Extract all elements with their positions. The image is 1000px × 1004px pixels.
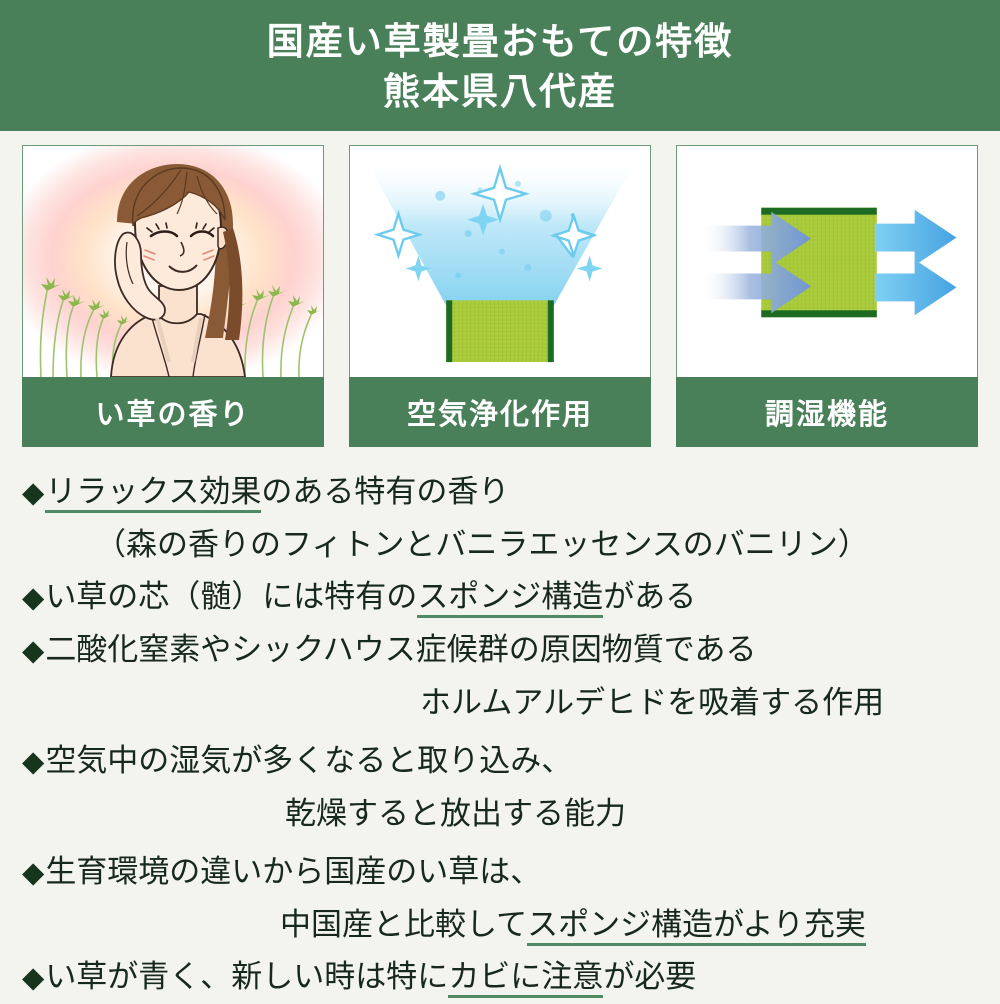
bullet-text: 中国産と比較して (280, 907, 527, 942)
bullet-text: 二酸化窒素やシックハウス症候群の原因物質である (45, 632, 756, 667)
highlighted-term: スポンジ構造 (417, 579, 603, 618)
bullet-text: がある (603, 579, 696, 614)
diamond-bullet-icon: ◆ (22, 857, 44, 889)
card-caption-air-purification: 空気浄化作用 (349, 377, 651, 447)
bullet-continuation-line: （森の香りのフィトンとバニラエッセンスのバニリン） (0, 519, 1000, 571)
feature-card-air-purification: 空気浄化作用 (349, 145, 651, 450)
fragrance-illustration (22, 145, 324, 377)
bullet-text: 乾燥すると放出する能力 (285, 796, 626, 831)
page-title-line-2: 熊本県八代産 (383, 67, 617, 117)
bullet-text: のある特有の香り (261, 474, 509, 509)
diamond-bullet-icon: ◆ (22, 582, 44, 614)
humidity-illustration (676, 145, 978, 377)
bullet-continuation-line: 乾燥すると放出する能力 (0, 788, 1000, 840)
tatami-mat-icon (350, 146, 650, 377)
page-header: 国産い草製畳おもての特徴 熊本県八代産 (0, 0, 1000, 131)
bullet-text: い草が青く、新しい時は特に (45, 959, 448, 994)
bullet-continuation-line: 中国産と比較してスポンジ構造がより充実 (0, 899, 1000, 951)
diamond-bullet-icon: ◆ (22, 635, 44, 667)
page-title-line-1: 国産い草製畳おもての特徴 (267, 17, 734, 67)
bullet-line: ◆二酸化窒素やシックハウス症候群の原因物質である (0, 624, 1000, 677)
bullet-line: ◆生育環境の違いから国産のい草は、 (0, 846, 1000, 899)
diamond-bullet-icon: ◆ (22, 477, 44, 509)
bullet-text: ホルムアルデヒドを吸着する作用 (420, 685, 884, 720)
bullet-line: ◆空気中の湿気が多くなると取り込み、 (0, 735, 1000, 788)
bullet-text: が必要 (603, 959, 696, 994)
feature-bullet-list: ◆リラックス効果のある特有の香り（森の香りのフィトンとバニラエッセンスのバニリン… (0, 466, 1000, 1004)
bullet-text: い草の芯（髄）には特有の (45, 579, 417, 614)
woman-face-icon (73, 162, 273, 377)
feature-card-fragrance: い草の香り (22, 145, 324, 450)
bullet-text: 空気中の湿気が多くなると取り込み、 (45, 743, 572, 778)
bullet-line: ◆い草が青く、新しい時は特にカビに注意が必要 (0, 951, 1000, 1004)
highlighted-term: リラックス効果 (45, 474, 261, 513)
diamond-bullet-icon: ◆ (22, 962, 44, 994)
bullet-line: ◆リラックス効果のある特有の香り (0, 466, 1000, 519)
highlighted-term: スポンジ構造がより充実 (527, 907, 866, 946)
air-purification-illustration (349, 145, 651, 377)
bullet-text: 生育環境の違いから国産のい草は、 (45, 854, 541, 889)
bullet-line: ◆い草の芯（髄）には特有のスポンジ構造がある (0, 571, 1000, 624)
feature-card-row: い草の香り (0, 145, 1000, 450)
bullet-text: （森の香りのフィトンとバニラエッセンスのバニリン） (95, 527, 869, 562)
feature-card-humidity: 調湿機能 (676, 145, 978, 450)
card-caption-humidity: 調湿機能 (676, 377, 978, 447)
diamond-bullet-icon: ◆ (22, 746, 44, 778)
moisture-arrow-icon (677, 146, 977, 377)
bullet-continuation-line: ホルムアルデヒドを吸着する作用 (0, 677, 1000, 729)
highlighted-term: カビに注意 (448, 959, 603, 998)
card-caption-fragrance: い草の香り (22, 377, 324, 447)
